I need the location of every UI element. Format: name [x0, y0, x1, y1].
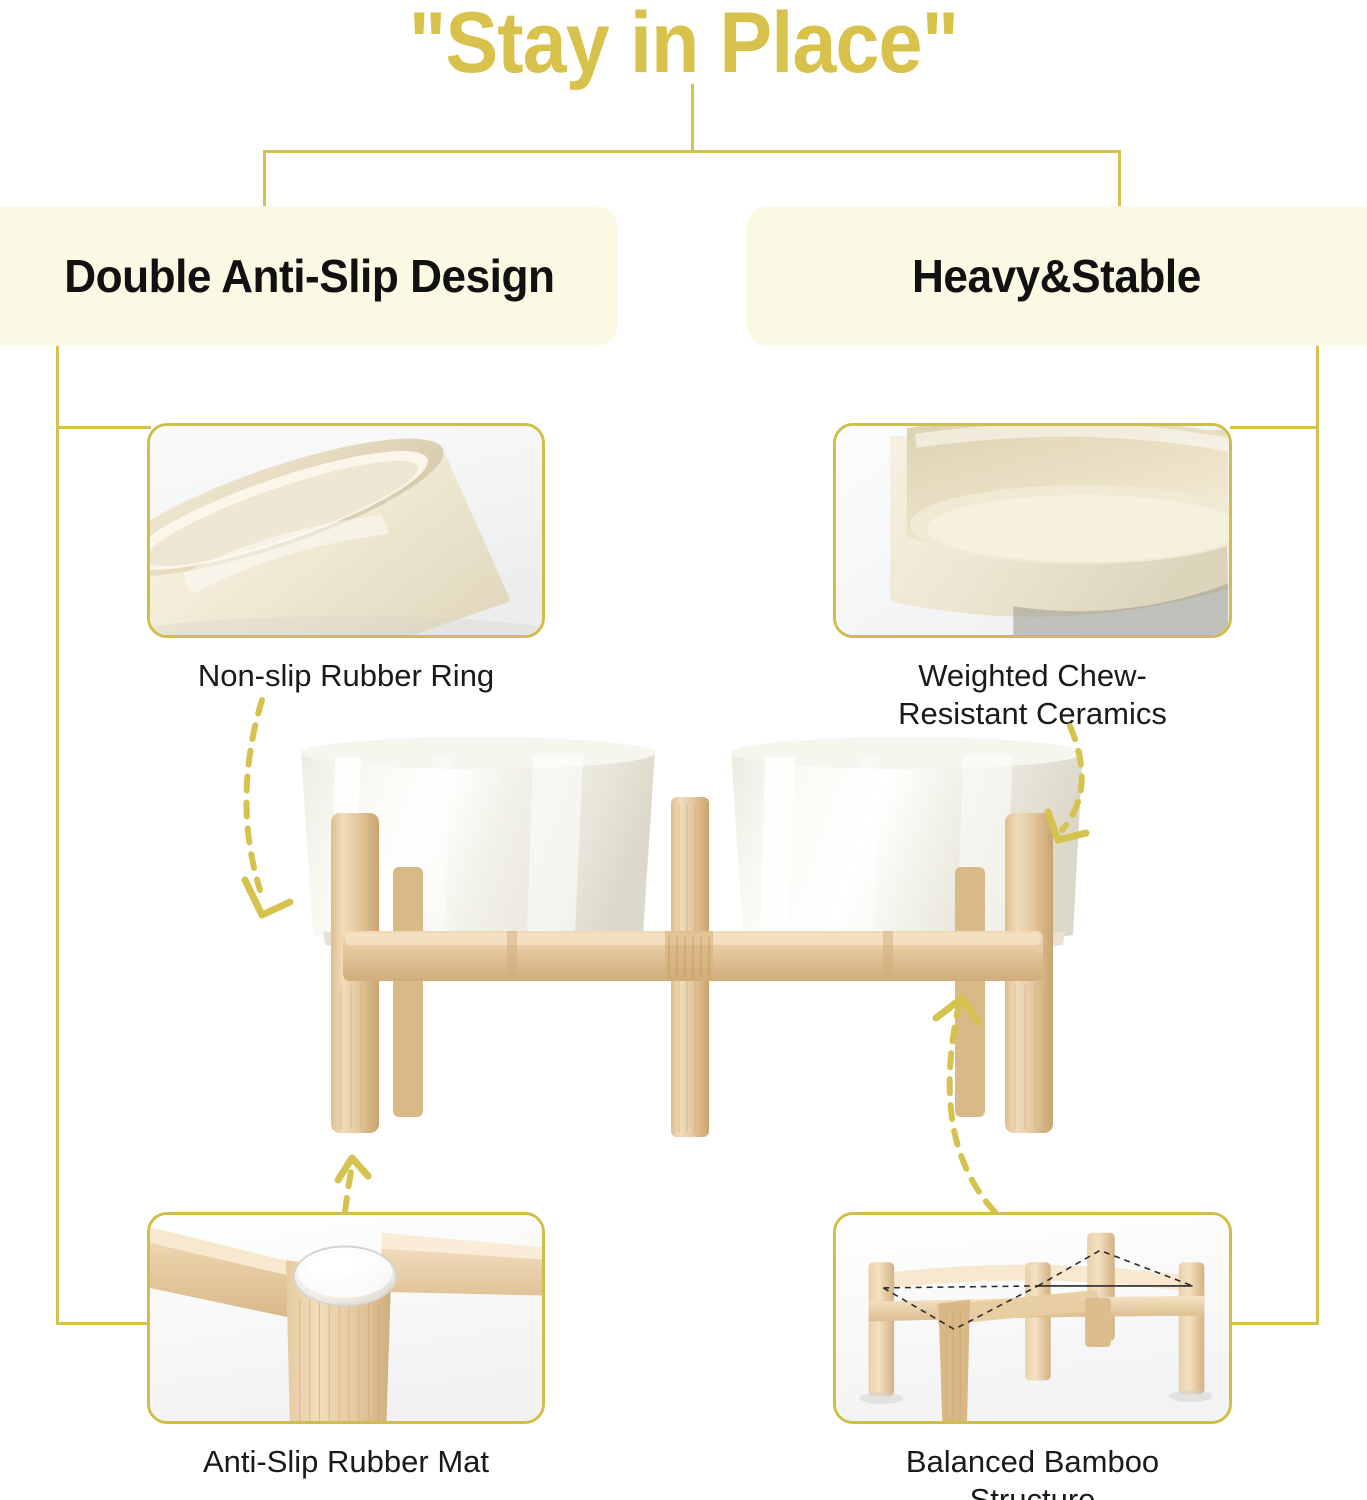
photo-non-slip-rubber-ring	[150, 426, 542, 638]
caption-anti-slip-rubber-mat: Anti-Slip Rubber Mat	[147, 1443, 545, 1481]
connector-right-branch-top	[1230, 426, 1319, 429]
photo-card-non-slip-rubber-ring	[147, 423, 545, 638]
page-title: "Stay in Place"	[55, 0, 1313, 93]
photo-weighted-chew-resistant-ceramics	[836, 426, 1229, 638]
photo-card-balanced-bamboo-structure	[833, 1212, 1232, 1424]
infographic-page: "Stay in Place" Double Anti-Slip Design …	[0, 0, 1367, 1500]
photo-balanced-bamboo-structure	[836, 1215, 1229, 1424]
caption-non-slip-rubber-ring: Non-slip Rubber Ring	[147, 657, 545, 695]
header-pill-heavy-and-stable: Heavy&Stable	[746, 206, 1367, 346]
connector-left-branch-bottom	[56, 1322, 151, 1325]
connector-right-drop	[1118, 150, 1121, 208]
photo-card-anti-slip-rubber-mat	[147, 1212, 545, 1424]
connector-right-spine	[1316, 343, 1319, 1325]
product-illustration	[283, 735, 1103, 1155]
connector-left-branch-top	[56, 426, 151, 429]
header-pill-double-anti-slip-design: Double Anti-Slip Design	[0, 206, 618, 346]
header-label-right: Heavy&Stable	[912, 249, 1201, 303]
arrow-path-non-slip-rubber-ring	[246, 700, 262, 890]
photo-anti-slip-rubber-mat	[150, 1215, 542, 1424]
connector-title-stem	[691, 84, 694, 152]
connector-right-branch-bottom	[1230, 1322, 1319, 1325]
connector-left-drop	[263, 150, 266, 208]
caption-weighted-chew-resistant-ceramics: Weighted Chew- Resistant Ceramics	[833, 657, 1232, 733]
photo-card-weighted-chew-resistant-ceramics	[833, 423, 1232, 638]
arrow-path-anti-slip-rubber-mat	[345, 1166, 352, 1212]
caption-balanced-bamboo-structure: Balanced Bamboo Structure	[833, 1443, 1232, 1500]
arrowhead-anti-slip-rubber-mat	[338, 1158, 368, 1180]
header-label-left: Double Anti-Slip Design	[64, 249, 554, 303]
product-image-double-bowl-bamboo-stand	[283, 735, 1103, 1155]
connector-left-spine	[56, 343, 59, 1325]
connector-top-bus	[263, 150, 1121, 153]
